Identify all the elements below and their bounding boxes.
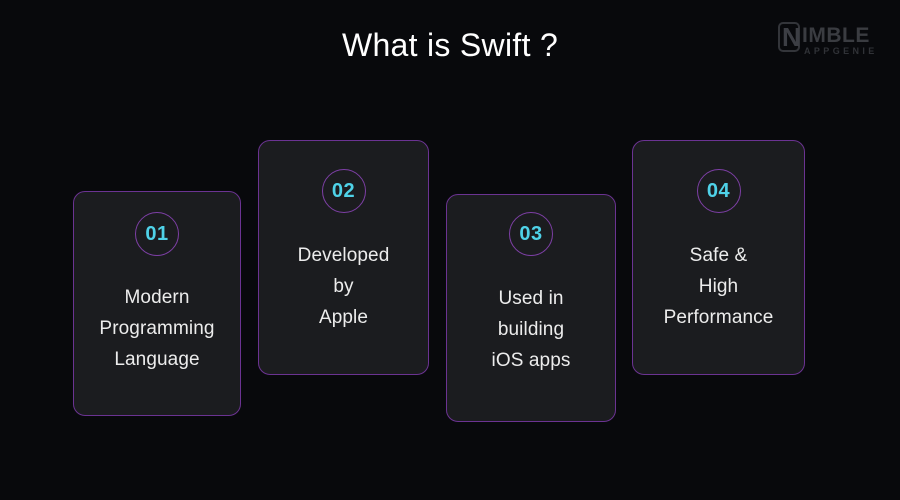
feature-card-4[interactable]: 04 Safe & High Performance bbox=[632, 140, 805, 375]
brand-logo: N IMBLE APPGENIE bbox=[778, 22, 886, 60]
card-number-badge: 03 bbox=[509, 212, 553, 256]
page-title: What is Swift ? bbox=[0, 26, 900, 64]
card-label: Modern Programming Language bbox=[77, 282, 237, 375]
card-number-badge: 01 bbox=[135, 212, 179, 256]
feature-card-3[interactable]: 03 Used in building iOS apps bbox=[446, 194, 616, 422]
slide-canvas: What is Swift ? N IMBLE APPGENIE 01 Mode… bbox=[0, 0, 900, 500]
feature-card-1[interactable]: 01 Modern Programming Language bbox=[73, 191, 241, 416]
card-number-badge: 02 bbox=[322, 169, 366, 213]
feature-card-2[interactable]: 02 Developed by Apple bbox=[258, 140, 429, 375]
card-label: Used in building iOS apps bbox=[449, 283, 613, 376]
card-label: Developed by Apple bbox=[261, 240, 426, 333]
card-label: Safe & High Performance bbox=[634, 240, 804, 333]
logo-wordmark: IMBLE bbox=[802, 25, 870, 46]
card-number-badge: 04 bbox=[697, 169, 741, 213]
logo-n-letter: N bbox=[782, 24, 801, 50]
logo-subtitle: APPGENIE bbox=[804, 47, 878, 56]
